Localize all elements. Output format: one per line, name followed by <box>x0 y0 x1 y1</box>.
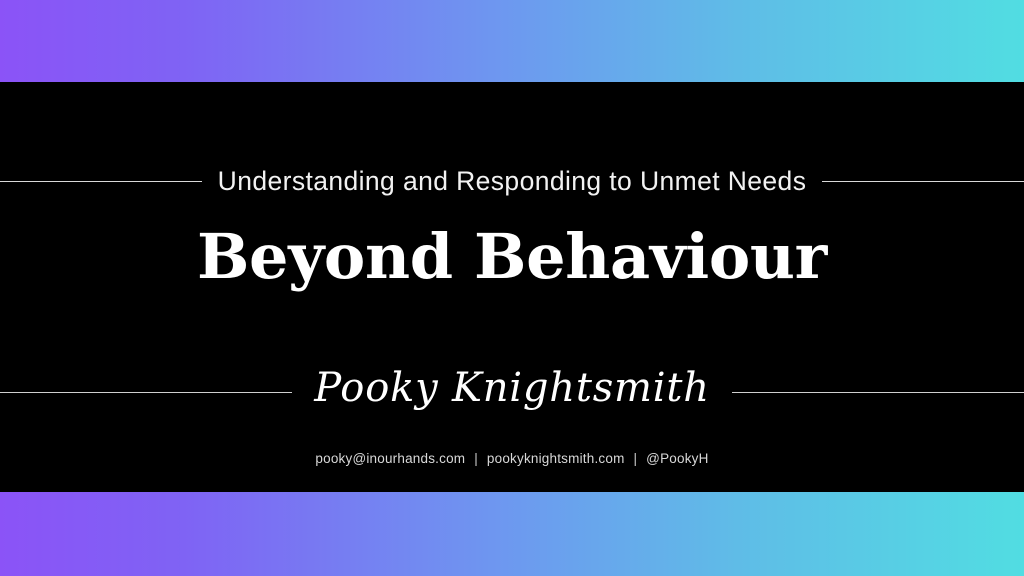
subtitle-rule-left <box>0 181 202 182</box>
name-rule-right <box>732 392 1024 393</box>
subtitle-rule-right <box>822 181 1024 182</box>
bottom-gradient-band <box>0 492 1024 576</box>
subtitle-row: Understanding and Responding to Unmet Ne… <box>0 168 1024 195</box>
footer-contact-line: pooky@inourhands.com | pookyknightsmith.… <box>0 452 1024 466</box>
slide-subtitle: Understanding and Responding to Unmet Ne… <box>202 168 823 195</box>
presenter-name-row: Pooky Knightsmith <box>0 372 1024 412</box>
name-rule-left <box>0 392 292 393</box>
footer-separator-2: | <box>628 451 642 466</box>
slide-title: Beyond Behaviour <box>0 222 1024 291</box>
slide-content-area: Understanding and Responding to Unmet Ne… <box>0 82 1024 492</box>
footer-website: pookyknightsmith.com <box>487 451 625 466</box>
title-slide: Understanding and Responding to Unmet Ne… <box>0 0 1024 576</box>
footer-social-handle: @PookyH <box>646 451 708 466</box>
footer-email: pooky@inourhands.com <box>315 451 465 466</box>
top-gradient-band <box>0 0 1024 82</box>
presenter-name: Pooky Knightsmith <box>292 368 732 408</box>
footer-separator-1: | <box>469 451 483 466</box>
